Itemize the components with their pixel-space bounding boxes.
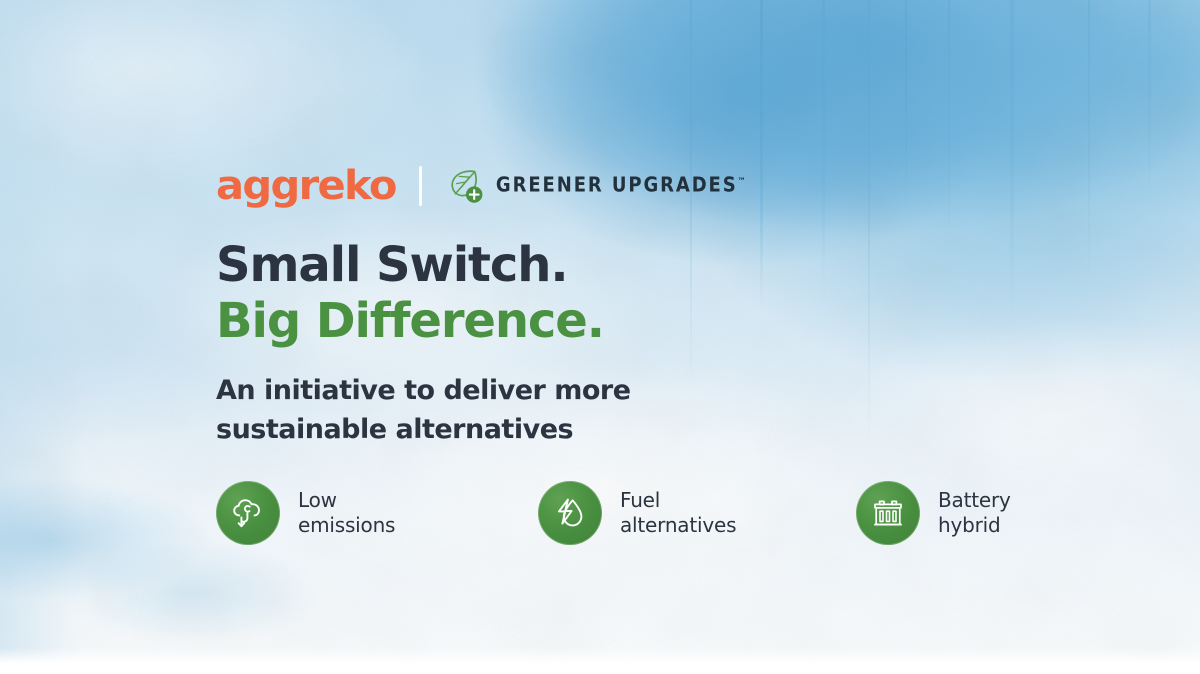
- feature-item-battery-hybrid: Battery hybrid: [856, 481, 1011, 545]
- headline-line-1: Small Switch.: [216, 237, 604, 293]
- feature-label-line-1: Fuel: [620, 488, 736, 513]
- feature-list: Low emissions Fuel alternatives: [216, 481, 1011, 545]
- feature-label-battery-hybrid: Battery hybrid: [938, 488, 1011, 538]
- greener-upgrades-submark: GREENER UPGRADES™: [496, 176, 746, 196]
- feature-item-low-emissions: Low emissions: [216, 481, 538, 545]
- subtitle-line-1: An initiative to deliver more: [216, 371, 631, 410]
- subtitle: An initiative to deliver more sustainabl…: [216, 371, 631, 449]
- feature-label-line-1: Low: [298, 488, 395, 513]
- greener-upgrades-label: GREENER UPGRADES: [496, 174, 738, 198]
- trademark-symbol: ™: [738, 176, 746, 186]
- slide-canvas: aggreko GREENER UPGRAD: [0, 0, 1200, 674]
- brand-lockup: aggreko GREENER UPGRAD: [216, 163, 746, 209]
- cloud-co2-down-arrow-icon: [216, 481, 280, 545]
- slide-content: aggreko GREENER UPGRAD: [0, 0, 1200, 674]
- feature-label-low-emissions: Low emissions: [298, 488, 395, 538]
- logo-divider: [419, 166, 422, 206]
- headline-line-2: Big Difference.: [216, 293, 604, 349]
- battery-three-cells-icon: [856, 481, 920, 545]
- subtitle-line-2: sustainable alternatives: [216, 410, 631, 449]
- leaf-plus-icon: [444, 165, 486, 207]
- feature-label-line-2: alternatives: [620, 513, 736, 538]
- feature-item-fuel-alternatives: Fuel alternatives: [538, 481, 856, 545]
- page-title: Small Switch. Big Difference.: [216, 237, 604, 349]
- droplet-lightning-bolt-icon: [538, 481, 602, 545]
- feature-label-line-2: hybrid: [938, 513, 1011, 538]
- aggreko-logo-wordmark: aggreko: [216, 166, 396, 206]
- feature-label-line-1: Battery: [938, 488, 1011, 513]
- feature-label-line-2: emissions: [298, 513, 395, 538]
- feature-label-fuel-alternatives: Fuel alternatives: [620, 488, 736, 538]
